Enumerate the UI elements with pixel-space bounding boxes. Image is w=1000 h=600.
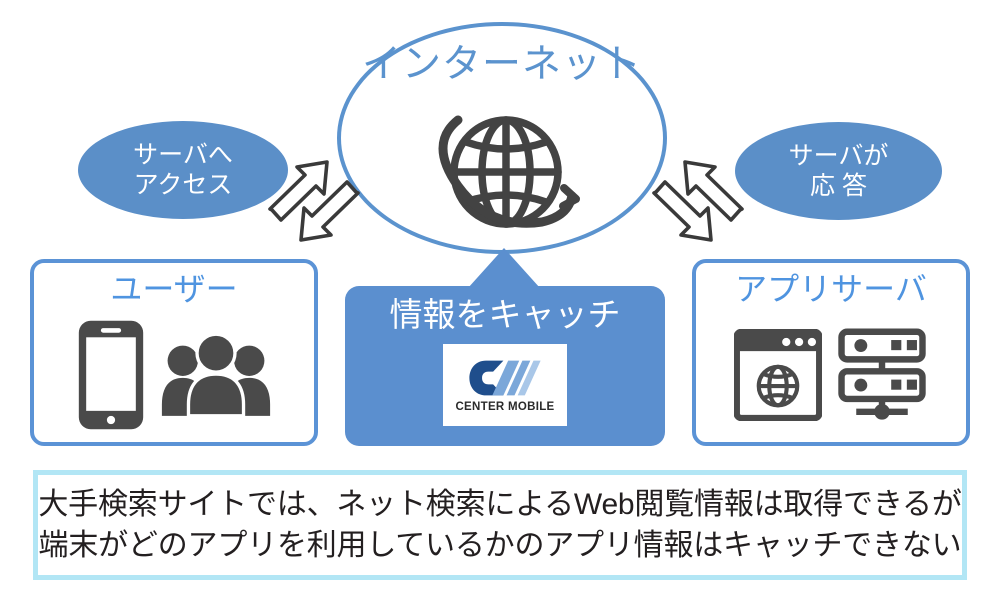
center-mobile-logo-text: CENTER MOBILE bbox=[455, 401, 554, 413]
flow-label-request: サーバへ アクセス bbox=[78, 121, 288, 219]
panel-user: ユーザー bbox=[30, 259, 318, 446]
bidirectional-arrows-left-icon bbox=[268, 142, 360, 262]
flow-label-response: サーバが 応 答 bbox=[735, 122, 942, 220]
caption-box: 大手検索サイトでは、ネット検索によるWeb閲覧情報は取得できるが 端末がどのアプ… bbox=[33, 470, 967, 580]
panel-user-icons bbox=[34, 318, 314, 436]
catch-box-title: 情報をキャッチ bbox=[345, 296, 665, 334]
browser-globe-icon bbox=[734, 329, 822, 426]
center-mobile-logo bbox=[467, 358, 543, 398]
server-rack-icon bbox=[836, 327, 928, 428]
panel-app-server: アプリサーバ bbox=[692, 259, 970, 446]
caption-line-2: 端末がどのアプリを利用しているかのアプリ情報はキャッチできない bbox=[39, 525, 962, 566]
flow-label-request-line2: アクセス bbox=[134, 170, 233, 201]
panel-app-server-icons bbox=[696, 318, 966, 436]
bidirectional-arrows-right-icon bbox=[652, 142, 744, 262]
smartphone-icon bbox=[76, 318, 146, 437]
flow-label-response-line2: 応 答 bbox=[810, 171, 867, 202]
center-mobile-logo-card: CENTER MOBILE bbox=[443, 344, 567, 426]
catch-box-pointer bbox=[468, 248, 540, 288]
diagram-canvas: インターネット サーバへ アクセス サーバが 応 答 bbox=[0, 0, 1000, 600]
flow-label-request-line1: サーバへ bbox=[133, 140, 233, 171]
catch-box: 情報をキャッチ CENTER MOBILE bbox=[345, 286, 665, 446]
globe-orbit-icon bbox=[418, 100, 588, 240]
panel-user-title: ユーザー bbox=[34, 272, 314, 307]
people-group-icon bbox=[160, 334, 272, 421]
caption-line-1: 大手検索サイトでは、ネット検索によるWeb閲覧情報は取得できるが bbox=[38, 484, 961, 525]
panel-app-server-title: アプリサーバ bbox=[696, 272, 966, 307]
internet-title: インターネット bbox=[337, 44, 667, 87]
flow-label-response-line1: サーバが bbox=[789, 141, 889, 172]
